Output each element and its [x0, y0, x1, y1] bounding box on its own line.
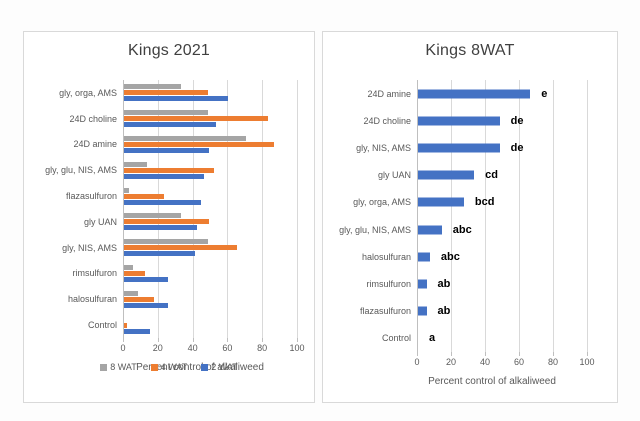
bar-8-wat — [418, 279, 427, 288]
bar-row: 24D aminee — [417, 80, 587, 107]
bar-row: rimsulfuronab — [417, 270, 587, 297]
significance-label: bcd — [475, 196, 495, 208]
significance-label: de — [511, 142, 524, 154]
bar-8-wat — [418, 198, 464, 207]
legend-left: 8 WAT4 WAT2 WAT — [24, 362, 314, 372]
chart-title-right: Kings 8WAT — [323, 42, 617, 60]
legend-item-2-wat[interactable]: 2 WAT — [201, 362, 238, 372]
bar-4-wat — [124, 116, 268, 121]
x-tick-label: 40 — [188, 343, 198, 353]
bar-8-wat — [124, 188, 129, 193]
x-tick — [417, 352, 418, 356]
x-tick-label: 80 — [548, 357, 558, 367]
bar-8-wat — [418, 225, 442, 234]
bar-8-wat — [418, 143, 500, 152]
chart-panel-kings-2021: Kings 2021 gly, orga, AMS24D choline24D … — [23, 31, 315, 403]
bar-row: gly UAN — [123, 209, 297, 235]
bar-row: rimsulfuron — [123, 261, 297, 287]
x-tick — [553, 352, 554, 356]
bar-row: 24D amine — [123, 132, 297, 158]
bar-8-wat — [418, 307, 427, 316]
bar-row: Controla — [417, 325, 587, 352]
category-label: flazasulfuron — [360, 306, 411, 316]
bar-4-wat — [124, 90, 208, 95]
bar-row: gly, orga, AMS — [123, 80, 297, 106]
bar-2-wat — [124, 200, 201, 205]
bar-8-wat — [124, 291, 138, 296]
legend-swatch — [151, 364, 158, 371]
bar-8-wat — [124, 239, 208, 244]
x-tick-label: 20 — [446, 357, 456, 367]
category-label: halosulfuran — [68, 294, 117, 304]
category-label: gly, glu, NIS, AMS — [45, 165, 117, 175]
bar-2-wat — [124, 303, 168, 308]
category-label: gly UAN — [378, 170, 411, 180]
bar-row: 24D choline — [123, 106, 297, 132]
bar-8-wat — [124, 110, 208, 115]
legend-label: 2 WAT — [211, 362, 238, 372]
gridline — [587, 80, 588, 352]
x-tick — [519, 352, 520, 356]
x-tick — [485, 352, 486, 356]
bar-row: halosulfuranabc — [417, 243, 587, 270]
bar-2-wat — [124, 251, 195, 256]
category-label: gly, orga, AMS — [353, 197, 411, 207]
bar-4-wat — [124, 142, 274, 147]
x-tick-label: 0 — [120, 343, 125, 353]
bar-row: gly, NIS, AMS — [123, 235, 297, 261]
x-tick-label: 100 — [579, 357, 594, 367]
significance-label: cd — [485, 169, 498, 181]
x-tick-label: 80 — [257, 343, 267, 353]
category-label: gly, NIS, AMS — [356, 143, 411, 153]
x-tick-label: 60 — [514, 357, 524, 367]
x-tick-label: 100 — [289, 343, 304, 353]
chart-title-left: Kings 2021 — [24, 42, 314, 60]
figure-canvas: Kings 2021 gly, orga, AMS24D choline24D … — [0, 0, 640, 421]
bar-2-wat — [124, 329, 150, 334]
bar-row: flazasulfuronab — [417, 298, 587, 325]
bar-2-wat — [124, 148, 209, 153]
bar-row: halosulfuran — [123, 286, 297, 312]
significance-label: abc — [441, 251, 460, 263]
x-tick-label: 0 — [414, 357, 419, 367]
category-label: gly, NIS, AMS — [62, 243, 117, 253]
x-tick — [227, 338, 228, 342]
bar-row: gly, glu, NIS, AMS — [123, 157, 297, 183]
bar-2-wat — [124, 225, 197, 230]
bar-2-wat — [124, 277, 168, 282]
plot-area-right: 24D aminee24D cholinedegly, NIS, AMSdegl… — [417, 80, 587, 352]
bar-8-wat — [418, 89, 530, 98]
category-label: 24D choline — [69, 114, 117, 124]
gridline — [297, 80, 298, 338]
legend-item-4-wat[interactable]: 4 WAT — [151, 362, 188, 372]
x-tick — [451, 352, 452, 356]
category-label: 24D amine — [367, 89, 411, 99]
bar-row: gly, NIS, AMSde — [417, 134, 587, 161]
category-label: gly, glu, NIS, AMS — [339, 225, 411, 235]
bar-8-wat — [124, 213, 181, 218]
bar-row: 24D cholinede — [417, 107, 587, 134]
category-label: Control — [382, 333, 411, 343]
bar-row: flazasulfuron — [123, 183, 297, 209]
bar-2-wat — [124, 122, 216, 127]
category-label: 24D amine — [73, 139, 117, 149]
chart-panel-kings-8wat: Kings 8WAT 24D aminee24D cholinedegly, N… — [322, 31, 618, 403]
x-tick — [297, 338, 298, 342]
category-label: 24D choline — [363, 116, 411, 126]
category-label: gly UAN — [84, 217, 117, 227]
bar-4-wat — [124, 271, 145, 276]
category-label: gly, orga, AMS — [59, 88, 117, 98]
bar-4-wat — [124, 323, 127, 328]
x-tick — [262, 338, 263, 342]
bar-4-wat — [124, 168, 214, 173]
bar-row: gly, orga, AMSbcd — [417, 189, 587, 216]
category-label: halosulfuran — [362, 252, 411, 262]
bar-4-wat — [124, 245, 237, 250]
bar-8-wat — [124, 84, 181, 89]
x-tick — [123, 338, 124, 342]
bar-8-wat — [418, 116, 500, 125]
x-tick — [587, 352, 588, 356]
legend-label: 4 WAT — [161, 362, 188, 372]
legend-label: 8 WAT — [110, 362, 137, 372]
bar-rows-right: 24D aminee24D cholinedegly, NIS, AMSdegl… — [417, 80, 587, 352]
legend-swatch — [201, 364, 208, 371]
bar-4-wat — [124, 297, 154, 302]
bar-4-wat — [124, 219, 209, 224]
category-label: rimsulfuron — [366, 279, 411, 289]
x-tick-label: 60 — [222, 343, 232, 353]
bar-row: Control — [123, 312, 297, 338]
x-tick — [158, 338, 159, 342]
significance-label: de — [511, 115, 524, 127]
legend-swatch — [100, 364, 107, 371]
bar-2-wat — [124, 174, 204, 179]
significance-label: e — [541, 88, 547, 100]
bar-8-wat — [418, 171, 474, 180]
bar-2-wat — [124, 96, 228, 101]
x-tick-label: 40 — [480, 357, 490, 367]
x-axis-right: Percent control of alkaliweed 0204060801… — [417, 352, 587, 374]
bar-row: gly, glu, NIS, AMSabc — [417, 216, 587, 243]
significance-label: ab — [438, 278, 451, 290]
category-label: flazasulfuron — [66, 191, 117, 201]
bar-8-wat — [418, 252, 430, 261]
category-label: rimsulfuron — [72, 268, 117, 278]
x-tick — [193, 338, 194, 342]
significance-label: ab — [438, 305, 451, 317]
bar-4-wat — [124, 194, 164, 199]
legend-item-8-wat[interactable]: 8 WAT — [100, 362, 137, 372]
category-label: Control — [88, 320, 117, 330]
x-tick-label: 20 — [153, 343, 163, 353]
plot-area-left: gly, orga, AMS24D choline24D aminegly, g… — [123, 80, 297, 338]
significance-label: abc — [453, 224, 472, 236]
x-axis-left: Percent control of alkaliweed 0204060801… — [123, 338, 297, 360]
bar-8-wat — [124, 162, 147, 167]
significance-label: a — [429, 332, 435, 344]
bar-8-wat — [124, 265, 133, 270]
bar-8-wat — [124, 136, 246, 141]
bar-rows-left: gly, orga, AMS24D choline24D aminegly, g… — [123, 80, 297, 338]
bar-row: gly UANcd — [417, 162, 587, 189]
x-axis-title-right: Percent control of alkaliweed — [357, 376, 627, 387]
